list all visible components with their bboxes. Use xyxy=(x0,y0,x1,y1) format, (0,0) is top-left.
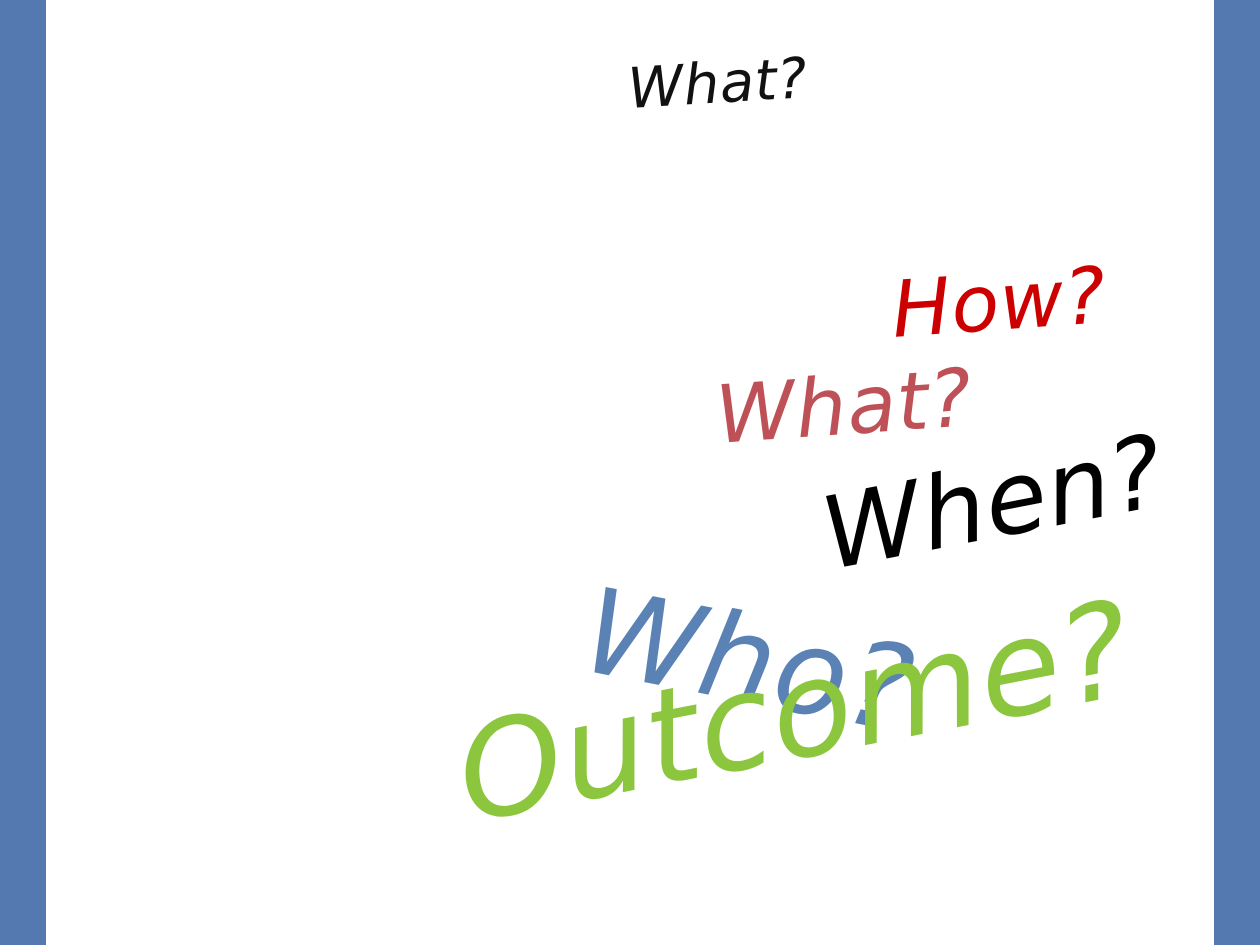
slide-canvas: What? How? What? When? Who? Outcome? xyxy=(0,0,1260,945)
right-accent-bar xyxy=(1214,0,1260,945)
handwritten-word-what-top: What? xyxy=(626,51,809,118)
handwritten-word-how: How? xyxy=(889,257,1109,350)
handwritten-word-what-red: What? xyxy=(713,358,975,456)
left-accent-bar xyxy=(0,0,46,945)
